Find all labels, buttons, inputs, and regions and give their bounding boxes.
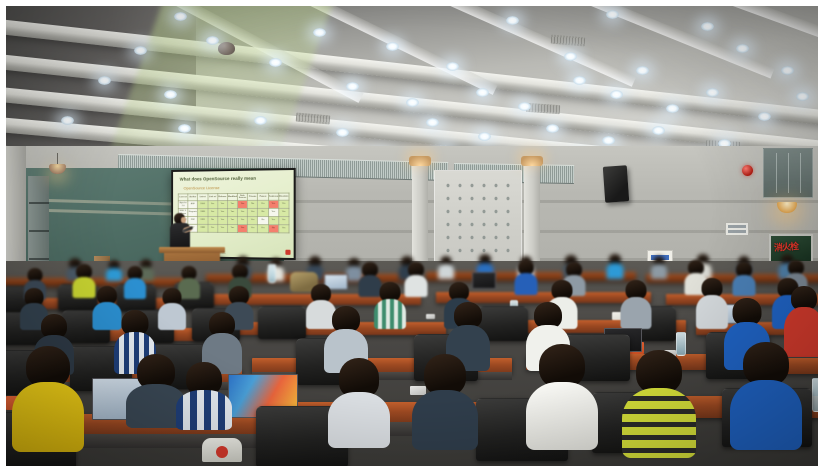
ceiling-downlight bbox=[164, 90, 177, 99]
audience-member-ponytail bbox=[328, 358, 390, 446]
ceiling-downlight bbox=[269, 58, 282, 67]
slide-table-cell: Yes bbox=[268, 200, 278, 208]
audience-member-plaid bbox=[374, 282, 406, 328]
smartphone bbox=[426, 314, 435, 319]
slide-table-header-cell: Disclaim bbox=[278, 193, 289, 200]
ceiling-downlight bbox=[254, 116, 267, 125]
ceiling-downlight bbox=[606, 10, 619, 19]
ceiling-dome-camera bbox=[218, 42, 235, 55]
slide-table-header-cell: License bbox=[178, 194, 188, 201]
fire-alarm-icon bbox=[742, 165, 753, 176]
audience-member-white-tee bbox=[526, 344, 598, 448]
audience-member bbox=[514, 260, 537, 293]
slide-table-cell: Yes bbox=[227, 224, 237, 232]
audience-member bbox=[651, 256, 667, 278]
wall-cabinet bbox=[763, 148, 813, 198]
slide-table-cell: Yes bbox=[217, 224, 227, 232]
slide-table-cell: No bbox=[258, 208, 268, 216]
ceiling-downlight bbox=[313, 28, 326, 37]
slide-table-cell: Apache 2.0 bbox=[178, 201, 188, 209]
slide-table-cell: No bbox=[268, 225, 278, 233]
ceiling-downlight bbox=[706, 88, 719, 97]
audience-member bbox=[158, 288, 186, 328]
ceiling-downlight bbox=[652, 126, 665, 135]
ceiling-downlight bbox=[564, 52, 577, 61]
podium-top bbox=[159, 247, 225, 253]
slide-table-row: MITMIT1988YesYesYesYesYesYesNoYes bbox=[178, 224, 289, 233]
slide-table-cell: No bbox=[208, 216, 218, 224]
water-bottle bbox=[268, 264, 276, 283]
ceiling-downlight bbox=[386, 42, 399, 51]
slide-table-cell: Yes bbox=[208, 201, 218, 209]
ceiling-downlight bbox=[506, 16, 519, 25]
audience-member-blue bbox=[730, 342, 802, 448]
ceiling-downlight bbox=[98, 76, 111, 85]
ceiling-downlight bbox=[134, 46, 147, 55]
water-bottle bbox=[812, 378, 818, 412]
slide-table-cell: Yes bbox=[248, 208, 258, 216]
ceiling-downlight bbox=[178, 124, 191, 133]
audience-member bbox=[732, 262, 755, 294]
photo-frame: 消火栓 What does OpenSource really mean Ope… bbox=[0, 0, 825, 475]
slide-table-header-cell: Latest bbox=[198, 194, 208, 201]
ceiling-downlight bbox=[701, 22, 714, 31]
slide-subtitle: OpenSource License bbox=[184, 185, 220, 190]
wall-speaker bbox=[603, 165, 629, 203]
slide-table-cell: Yes bbox=[217, 216, 227, 224]
ceiling-downlight bbox=[61, 116, 74, 125]
slide-table-cell: Yes bbox=[208, 224, 218, 232]
slide-table-cell: Yes bbox=[278, 208, 289, 216]
ceiling-downlight bbox=[518, 102, 531, 111]
audience-member bbox=[106, 260, 122, 280]
slide-table-cell: Yes bbox=[217, 201, 227, 209]
slide-table-header-cell: Modified bbox=[227, 193, 237, 200]
slide-table-cell: No bbox=[258, 217, 268, 225]
ceiling-downlight bbox=[546, 124, 559, 133]
slide-table-cell: 1999 bbox=[198, 209, 208, 217]
audience-member bbox=[606, 254, 623, 278]
slide-table-cell: 1991 bbox=[198, 216, 208, 224]
wall-sconce-lamp bbox=[777, 202, 797, 213]
slide-table-cell: Yes bbox=[258, 200, 268, 208]
laptop bbox=[472, 272, 494, 287]
audience-member bbox=[404, 262, 427, 295]
white-cap bbox=[202, 438, 242, 462]
ceiling-downlight bbox=[426, 118, 439, 127]
slide-table-cell: 1988 bbox=[198, 224, 208, 232]
slide-table-row: BSD 3-clauseRegents1999YesYesYesYesYesNo… bbox=[178, 208, 289, 216]
audience-member-striped bbox=[622, 350, 696, 456]
slide-table-row: Apache 2.0ASF2004YesYesYesYesNoYesYesYes bbox=[178, 200, 289, 208]
slide-table-cell: Yes bbox=[237, 208, 247, 216]
slide-table-cell: Yes bbox=[278, 217, 289, 225]
ceiling-downlight bbox=[476, 88, 489, 97]
chair bbox=[258, 306, 306, 339]
slide-table-cell: Yes bbox=[227, 208, 237, 216]
slide-table-header-cell: Author bbox=[188, 194, 198, 201]
ceiling-downlight bbox=[174, 12, 187, 21]
audience-member-plaid bbox=[176, 362, 232, 426]
slide-table-cell: Yes bbox=[227, 200, 237, 208]
ceiling-downlight bbox=[636, 66, 649, 75]
slide-table-cell: Yes bbox=[208, 209, 218, 217]
slide-table-cell: 2004 bbox=[198, 201, 208, 209]
audience-member-yellow bbox=[12, 346, 84, 446]
ceiling-downlight bbox=[796, 92, 809, 101]
audience-member bbox=[124, 266, 146, 297]
slide-table-header-cell: Patent bbox=[258, 193, 268, 200]
ceiling-downlight bbox=[406, 98, 419, 107]
slide-table-header-cell: Trademark bbox=[268, 193, 278, 200]
slide-table-cell: Yes bbox=[248, 217, 258, 225]
slide-table-cell: Yes bbox=[248, 225, 258, 233]
slide-title: What does OpenSource really mean bbox=[180, 176, 256, 182]
ceiling-downlight bbox=[446, 62, 459, 71]
ceiling-downlight bbox=[736, 44, 749, 53]
slide-table-cell: Yes bbox=[258, 225, 268, 233]
slide-table-cell: Yes bbox=[268, 208, 278, 216]
slide-table-cell: Yes bbox=[237, 217, 247, 225]
ceiling-downlight bbox=[346, 82, 359, 91]
ceiling-downlight bbox=[602, 136, 615, 145]
slide-table-cell: ASF bbox=[188, 201, 198, 209]
slide-table-header-cell: Private bbox=[248, 193, 258, 200]
slide-table-cell: Yes bbox=[217, 209, 227, 217]
slide-license-table: LicenseAuthorLatestLink w/ReleaseModifie… bbox=[178, 193, 290, 234]
audience-member bbox=[438, 256, 454, 278]
ceiling-downlight bbox=[758, 112, 771, 121]
ceiling-downlight bbox=[478, 132, 491, 141]
ceiling-downlight bbox=[610, 90, 623, 99]
lecture-hall-photo: 消火栓 What does OpenSource really mean Ope… bbox=[6, 6, 818, 466]
slide-table-cell: Yes bbox=[278, 200, 289, 208]
slide-table-cell: Yes bbox=[227, 216, 237, 224]
wall-notice-sign bbox=[725, 222, 749, 236]
slide-table-cell: No bbox=[248, 200, 258, 208]
ceiling-downlight bbox=[666, 104, 679, 113]
ceiling-downlight bbox=[573, 76, 586, 85]
ceiling-downlight bbox=[336, 128, 349, 137]
slide-logo bbox=[285, 250, 290, 255]
slide-table-cell: Yes bbox=[237, 200, 247, 208]
audience-member bbox=[412, 354, 478, 448]
slide-table-header-cell: Sub-license bbox=[237, 193, 247, 200]
audience-member bbox=[620, 280, 651, 328]
slide-table-cell: Yes bbox=[278, 225, 289, 233]
slide-table-cell: Yes bbox=[237, 225, 247, 233]
slide-table-cell: Yes bbox=[268, 217, 278, 225]
ceiling-downlight bbox=[781, 66, 794, 75]
projection-screen: What does OpenSource really mean OpenSou… bbox=[173, 170, 294, 258]
fire-cabinet-label: 消火栓 bbox=[774, 239, 799, 254]
ceiling-downlight bbox=[206, 36, 219, 45]
slide-table-header-cell: Link w/ bbox=[208, 194, 218, 201]
slide-table-header-cell: Release bbox=[217, 194, 227, 201]
